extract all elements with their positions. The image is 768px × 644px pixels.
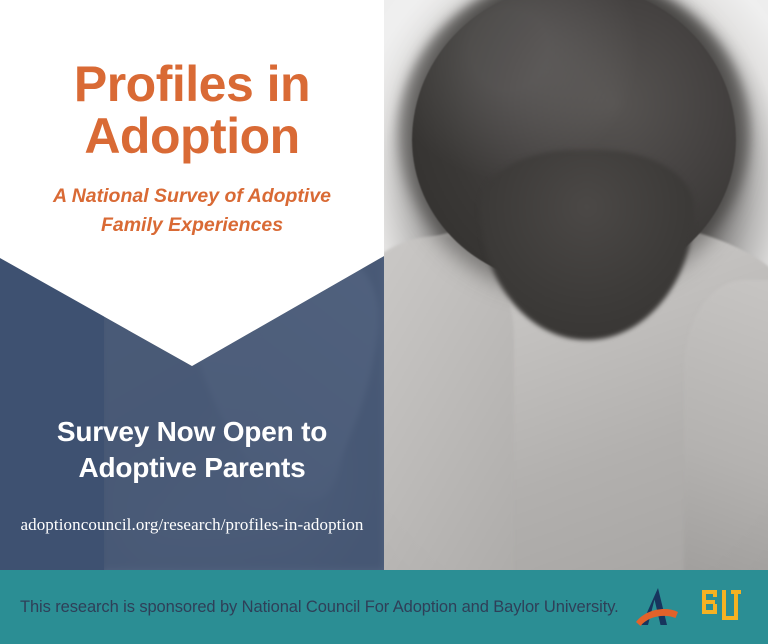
ncfa-logo <box>634 585 686 629</box>
baylor-logo <box>700 585 746 629</box>
footer-logos <box>634 585 746 629</box>
title-block: Profiles in Adoption A National Survey o… <box>0 58 384 240</box>
portrait-photo <box>384 0 768 570</box>
cta-heading: Survey Now Open to Adoptive Parents <box>0 414 384 486</box>
page-title: Profiles in Adoption <box>0 58 384 162</box>
poster-canvas: Profiles in Adoption A National Survey o… <box>0 0 768 644</box>
photo-vignette <box>384 0 768 570</box>
sponsor-footer: This research is sponsored by National C… <box>0 570 768 644</box>
sponsor-text: This research is sponsored by National C… <box>20 597 634 617</box>
page-subtitle: A National Survey of Adoptive Family Exp… <box>0 182 384 240</box>
cta-block: Survey Now Open to Adoptive Parents adop… <box>0 414 384 536</box>
survey-url-link[interactable]: adoptioncouncil.org/research/profiles-in… <box>0 514 384 536</box>
